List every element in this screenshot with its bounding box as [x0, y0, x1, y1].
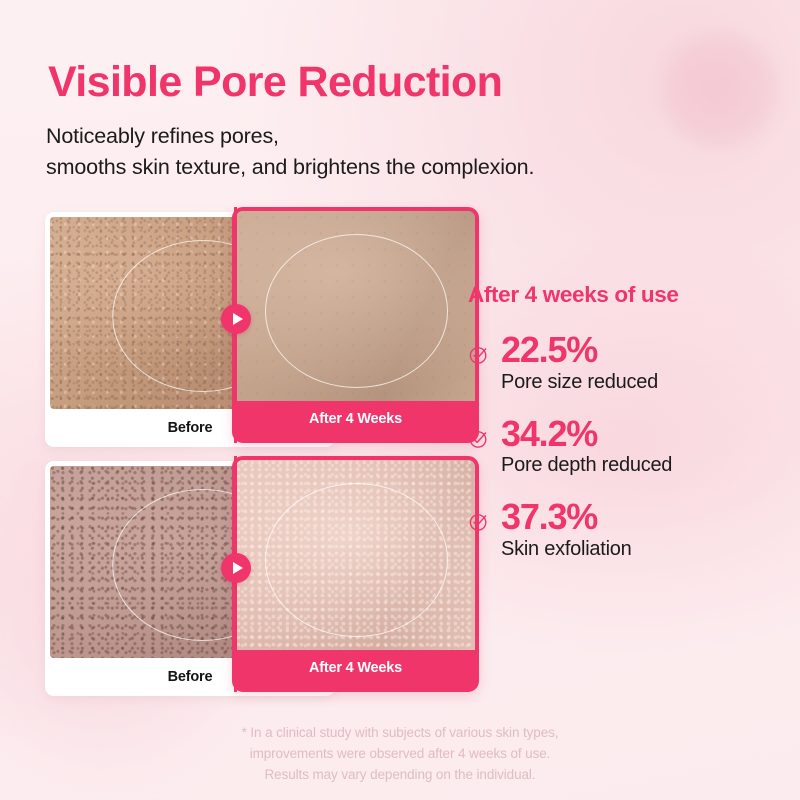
- stats-panel: After 4 weeks of use 22.5% Pore size red…: [468, 282, 778, 583]
- stat-item: 34.2% Pore depth reduced: [468, 416, 778, 478]
- play-icon[interactable]: [221, 304, 251, 334]
- footnote: * In a clinical study with subjects of v…: [0, 722, 800, 785]
- play-icon[interactable]: [221, 553, 251, 583]
- subtitle-line-1: Noticeably refines pores,: [46, 121, 534, 152]
- page-title: Visible Pore Reduction: [48, 58, 502, 107]
- focus-ring-after-1: [265, 234, 449, 388]
- after-label-1: After 4 Weeks: [236, 399, 475, 439]
- stat-value: 22.5%: [501, 332, 778, 369]
- check-circle-icon: [468, 344, 490, 366]
- footnote-line-2: improvements were observed after 4 weeks…: [0, 743, 800, 764]
- footnote-line-3: Results may vary depending on the indivi…: [0, 764, 800, 785]
- stat-label: Pore size reduced: [501, 371, 778, 394]
- after-card-1: After 4 Weeks: [232, 207, 479, 443]
- stat-value: 34.2%: [501, 416, 778, 453]
- stat-item: 22.5% Pore size reduced: [468, 332, 778, 394]
- subtitle-line-2: smooths skin texture, and brightens the …: [46, 152, 534, 183]
- check-circle-icon: [468, 511, 490, 533]
- footnote-line-1: * In a clinical study with subjects of v…: [0, 722, 800, 743]
- stat-item: 37.3% Skin exfoliation: [468, 499, 778, 561]
- stats-heading: After 4 weeks of use: [468, 282, 778, 308]
- after-photo-2: [236, 460, 475, 650]
- after-card-2: After 4 Weeks: [232, 456, 479, 692]
- stat-value: 37.3%: [501, 499, 778, 536]
- page-subtitle: Noticeably refines pores, smooths skin t…: [46, 121, 534, 183]
- check-circle-icon: [468, 428, 490, 450]
- stat-label: Pore depth reduced: [501, 454, 778, 477]
- after-label-2: After 4 Weeks: [236, 648, 475, 688]
- after-photo-1: [236, 211, 475, 401]
- stat-label: Skin exfoliation: [501, 538, 778, 561]
- infographic-canvas: Visible Pore Reduction Noticeably refine…: [0, 0, 800, 800]
- focus-ring-after-2: [265, 483, 449, 637]
- decorative-circle-top-right: [658, 28, 782, 152]
